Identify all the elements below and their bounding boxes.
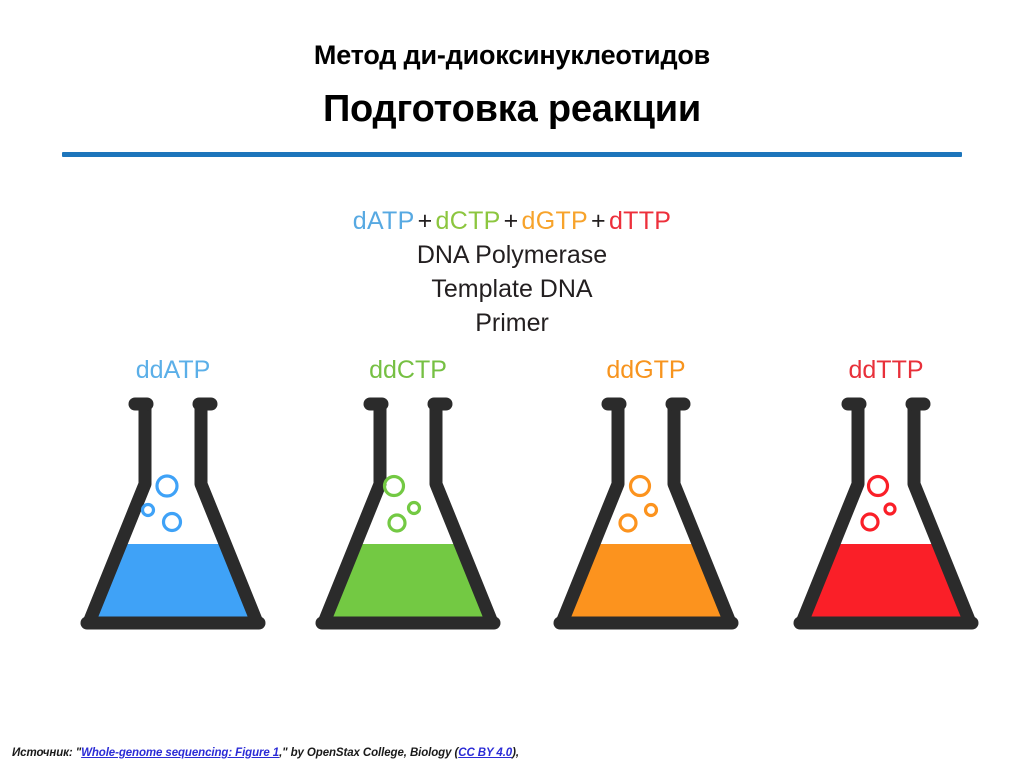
flask-label-ddatp: ddATP [55, 356, 291, 385]
bubble-medium [862, 514, 878, 530]
bubble-large [385, 477, 404, 496]
dntp-mix-line: dATP+dCTP+dGTP+dTTP [0, 204, 1024, 238]
bubble-medium [389, 515, 405, 531]
dntp-datp-label: dATP [353, 207, 415, 235]
slide-subtitle: Метод ди-диоксинуклеотидов [0, 40, 1024, 71]
dntp-dgtp-label: dGTP [522, 207, 589, 235]
bubble-small [885, 504, 895, 514]
bubble-large [631, 477, 650, 496]
flask-ddctp-illustration [290, 392, 526, 642]
flask-row: ddATP ddCTP [0, 356, 1024, 656]
flask-ddgtp-illustration [528, 392, 764, 642]
flask-ddgtp: ddGTP [528, 356, 764, 646]
attribution-prefix: Источник: [12, 747, 73, 759]
bubble-small [409, 503, 420, 514]
flask-ddatp-illustration [55, 392, 291, 642]
bubble-medium [620, 515, 636, 531]
attribution-suffix: ), [512, 747, 519, 759]
flask-ddttp-illustration [768, 392, 1004, 642]
attribution-figure-link[interactable]: Whole-genome sequencing: Figure 1 [81, 747, 279, 759]
dntp-dctp-label: dCTP [436, 207, 501, 235]
slide-header: Метод ди-диоксинуклеотидов Подготовка ре… [0, 0, 1024, 160]
bubble-group [620, 477, 657, 532]
flask-ddttp: ddTTP [768, 356, 1004, 646]
flask-label-ddgtp: ddGTP [528, 356, 764, 385]
flask-ddctp: ddCTP [290, 356, 526, 646]
reagent-dna-polymerase: DNA Polymerase [0, 238, 1024, 272]
plus-sign-3: + [588, 207, 609, 235]
flask-label-ddctp: ddCTP [290, 356, 526, 385]
bubble-group [385, 477, 420, 532]
reagent-primer: Primer [0, 306, 1024, 340]
flask-ddatp: ddATP [55, 356, 291, 646]
plus-sign-1: + [415, 207, 436, 235]
source-attribution: Источник: "Whole-genome sequencing: Figu… [12, 747, 1012, 759]
page-title: Подготовка реакции [0, 88, 1024, 131]
bubble-large [157, 476, 177, 496]
bubble-small [143, 505, 154, 516]
attribution-mid-text: ," by OpenStax College, Biology ( [279, 747, 458, 759]
dntp-dttp-label: dTTP [609, 207, 671, 235]
flask-label-ddttp: ddTTP [768, 356, 1004, 385]
attribution-license-link[interactable]: CC BY 4.0 [458, 747, 512, 759]
title-divider-rule [62, 152, 962, 157]
bubble-group [862, 477, 895, 531]
bubble-large [869, 477, 888, 496]
reagent-template-dna: Template DNA [0, 272, 1024, 306]
plus-sign-2: + [501, 207, 522, 235]
bubble-medium [164, 514, 181, 531]
bubble-small [646, 505, 657, 516]
reagent-mix-block: dATP+dCTP+dGTP+dTTP DNA Polymerase Templ… [0, 204, 1024, 340]
